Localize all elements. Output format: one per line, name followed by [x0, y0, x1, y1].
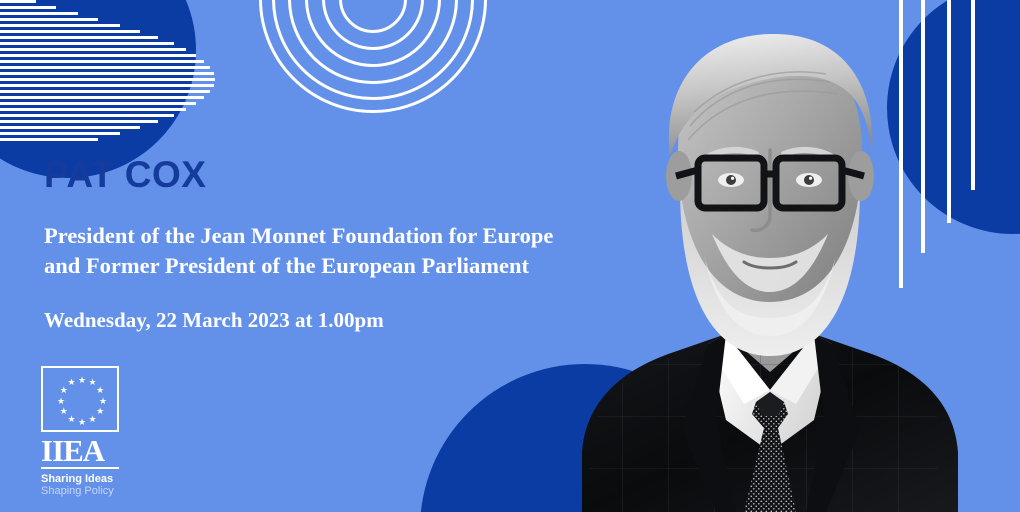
ring: [272, 0, 474, 100]
horizontal-line: [0, 72, 214, 75]
horizontal-line: [0, 0, 36, 3]
page-title: PAT COX: [44, 156, 624, 193]
eu-star: ★: [78, 376, 87, 385]
event-datetime: Wednesday, 22 March 2023 at 1.00pm: [44, 307, 624, 334]
horizontal-line: [0, 60, 204, 63]
speaker-title: President of the Jean Monnet Foundation …: [44, 221, 624, 281]
speaker-title-line-2: and Former President of the European Par…: [44, 251, 624, 281]
horizontal-line: [0, 6, 56, 9]
horizontal-line: [0, 120, 158, 123]
horizontal-line-stack-icon: [0, 0, 200, 145]
horizontal-line: [0, 48, 186, 51]
eu-star: ★: [67, 378, 76, 387]
horizontal-line: [0, 30, 140, 33]
horizontal-line: [0, 36, 158, 39]
eu-star: ★: [59, 407, 68, 416]
iiea-logo[interactable]: ★★★★★★★★★★★★ IIEA Sharing Ideas Shaping …: [41, 366, 125, 497]
concentric-rings-icon: [262, 0, 484, 110]
eu-star: ★: [96, 407, 105, 416]
eu-star: ★: [96, 386, 105, 395]
event-banner: PAT COX President of the Jean Monnet Fou…: [0, 0, 1020, 512]
horizontal-line: [0, 138, 98, 141]
horizontal-line: [0, 108, 186, 111]
ring: [305, 0, 441, 67]
eu-star: ★: [67, 415, 76, 424]
logo-tagline-sharing-ideas: Sharing Ideas: [41, 473, 125, 485]
ring: [259, 0, 487, 113]
dark-circle-top-left-icon: [0, 0, 196, 178]
horizontal-line: [0, 18, 98, 21]
eu-star: ★: [88, 415, 97, 424]
horizontal-line: [0, 84, 214, 87]
ring: [322, 0, 424, 50]
horizontal-line: [0, 78, 215, 81]
horizontal-line: [0, 114, 174, 117]
logo-tagline-shaping-policy: Shaping Policy: [41, 485, 125, 497]
eu-star: ★: [99, 397, 108, 406]
horizontal-line: [0, 90, 210, 93]
horizontal-line: [0, 66, 210, 69]
event-text-block: PAT COX President of the Jean Monnet Fou…: [44, 156, 624, 335]
horizontal-line: [0, 102, 196, 105]
ring: [288, 0, 458, 84]
horizontal-line: [0, 132, 120, 135]
horizontal-line: [0, 54, 196, 57]
horizontal-line: [0, 96, 204, 99]
iiea-wordmark: IIEA: [41, 435, 119, 469]
horizontal-line: [0, 12, 78, 15]
ring: [339, 0, 407, 33]
horizontal-line: [0, 24, 120, 27]
horizontal-line: [0, 42, 174, 45]
eu-star: ★: [57, 397, 66, 406]
eu-star: ★: [78, 418, 87, 427]
eu-stars-icon: ★★★★★★★★★★★★: [41, 366, 119, 432]
eu-star: ★: [59, 386, 68, 395]
speaker-title-line-1: President of the Jean Monnet Foundation …: [44, 221, 624, 251]
horizontal-line: [0, 126, 140, 129]
